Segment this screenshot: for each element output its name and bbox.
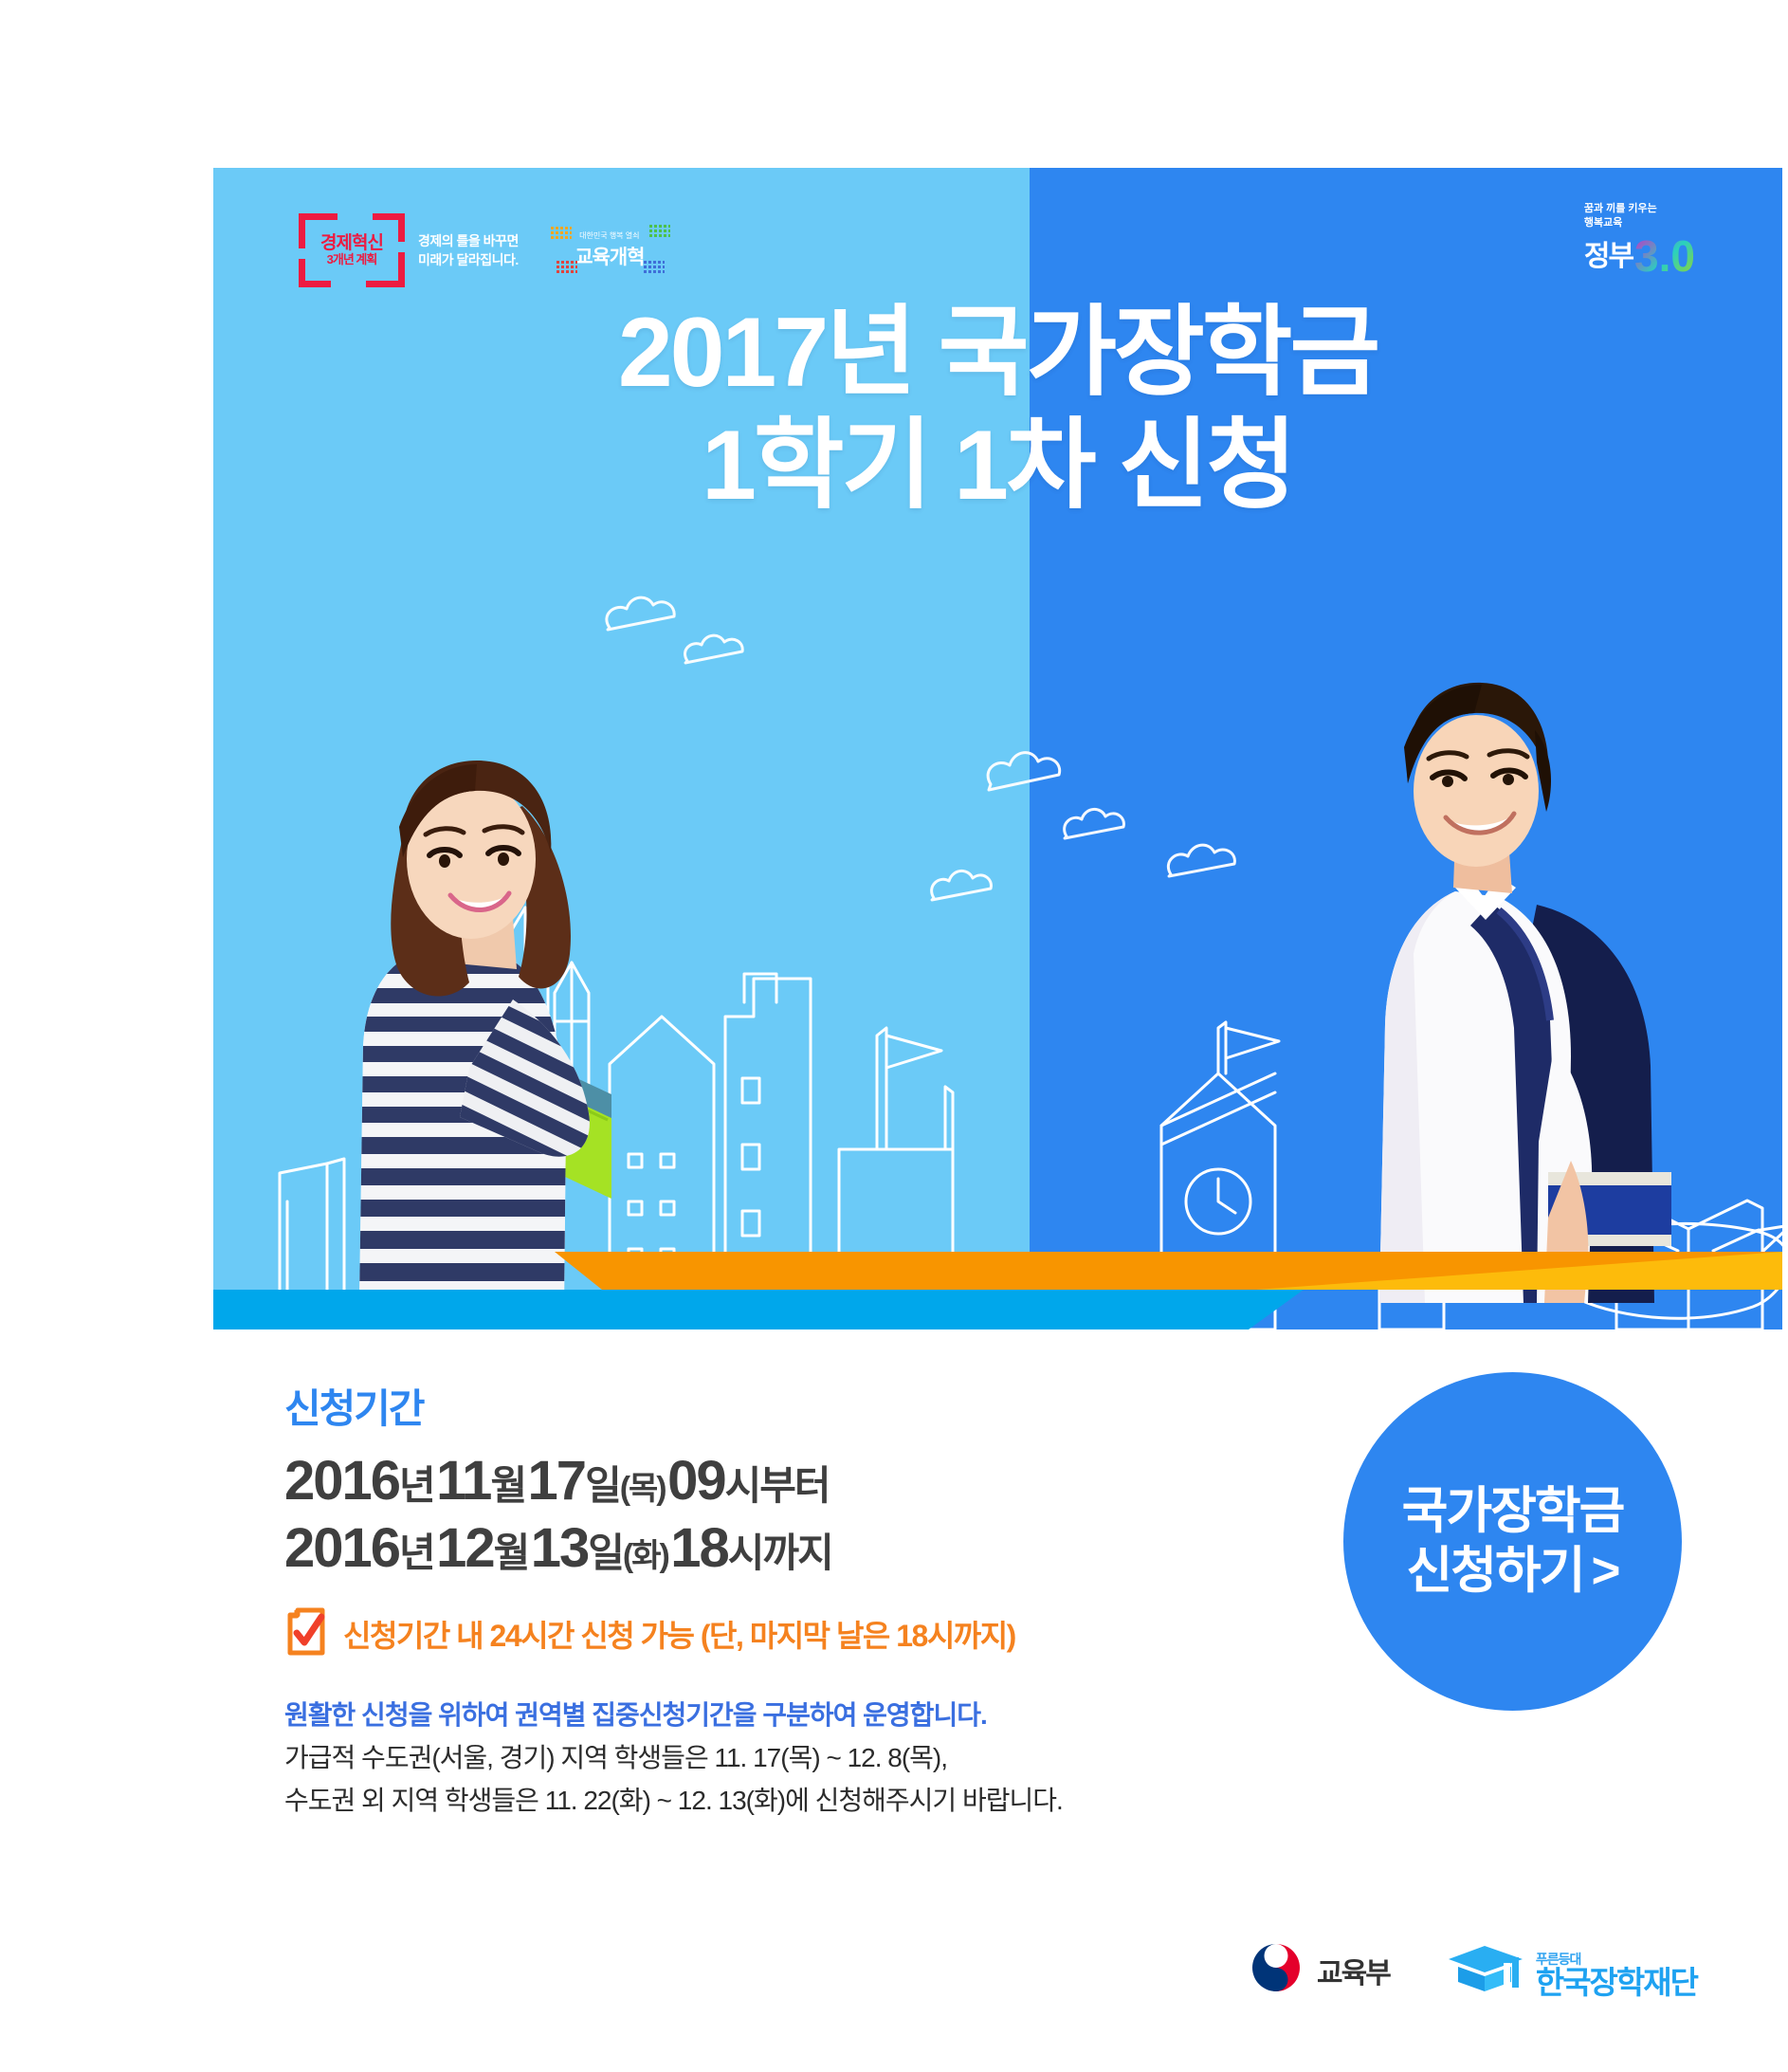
dot-grid-icon <box>551 227 572 248</box>
page-title: 2017년 국가장학금 1학기 1차 신청 <box>213 297 1782 522</box>
edu-reform-logo: 대한민국 행복 열쇠 교육개혁 <box>564 230 655 270</box>
student-female-photo <box>327 715 640 1303</box>
date-line-start: 2016년 11월 17일(목) 09시부터 <box>284 1448 1289 1515</box>
ministry-label: 교육부 <box>1317 1950 1390 1991</box>
start-year-unit: 년 <box>399 1463 434 1508</box>
taeguk-icon <box>1249 1940 1304 2000</box>
econ-reform-logo: 경제혁신 3개년 계획 경제의 틀을 바꾸면 미래가 달라집니다. <box>299 213 519 287</box>
cta-line-2: 신청하기 <box>1407 1542 1584 1602</box>
note-text: 신청기간 내 24시간 신청 가능 (단, 마지막 날은 18시까지) <box>343 1612 1015 1656</box>
start-weekday: (목) <box>620 1471 666 1507</box>
footer-logos: 교육부 푸른등대 한국장학재단 <box>0 1940 1788 2000</box>
end-month-unit: 월 <box>494 1531 529 1575</box>
application-period-block: 신청기간 2016년 11월 17일(목) 09시부터 2016년 12월 13… <box>284 1377 1289 1823</box>
poster-root: 경제혁신 3개년 계획 경제의 틀을 바꾸면 미래가 달라집니다. 대한민 <box>0 0 1788 2072</box>
dot-grid-icon <box>556 261 577 282</box>
edu-reform-name: 교육개혁 <box>575 242 644 270</box>
cta-line-1: 국가장학금 <box>1402 1482 1624 1542</box>
note-row: 신청기간 내 24시간 신청 가능 (단, 마지막 날은 18시까지) <box>284 1607 1289 1661</box>
kosaf-main-label: 한국장학재단 <box>1536 1967 1697 1998</box>
econ-logo-line3: 3개년 계획 <box>327 253 377 266</box>
end-year: 2016 <box>284 1517 399 1579</box>
date-line-end: 2016년 12월 13일(화) 18시까지 <box>284 1515 1289 1583</box>
edu-reform-tagline: 대한민국 행복 열쇠 <box>579 230 639 241</box>
clipboard-check-icon <box>284 1607 328 1661</box>
end-year-unit: 년 <box>399 1531 434 1575</box>
graduation-cap-icon <box>1445 1942 1526 1998</box>
end-weekday: (화) <box>623 1538 668 1574</box>
start-hour: 09 <box>667 1450 725 1512</box>
gov30-tagline: 꿈과 끼를 키우는 행복교육 <box>1584 202 1657 230</box>
ministry-of-education-logo: 교육부 <box>1249 1940 1390 2000</box>
cloud-doodle-left <box>607 597 742 663</box>
end-hour-unit: 시까지 <box>728 1531 832 1575</box>
end-day-unit: 일 <box>588 1531 623 1575</box>
start-year: 2016 <box>284 1450 399 1512</box>
start-hour-unit: 시부터 <box>725 1463 830 1508</box>
start-day: 17 <box>528 1450 586 1512</box>
guidance-line-2: 가급적 수도권(서울, 경기) 지역 학생들은 11. 17(목) ~ 12. … <box>284 1736 1289 1779</box>
econ-logo-line1: 경제 <box>320 233 352 253</box>
government-30-logo: 꿈과 끼를 키우는 행복교육 정부 3.0 <box>1584 202 1695 274</box>
dot-grid-icon <box>649 225 670 246</box>
section-heading: 신청기간 <box>284 1377 1289 1435</box>
hero-banner: 경제혁신 3개년 계획 경제의 틀을 바꾸면 미래가 달라집니다. 대한민 <box>213 168 1782 1329</box>
guidance-line-3: 수도권 외 지역 학생들은 11. 22(화) ~ 12. 13(화)에 신청해… <box>284 1779 1289 1822</box>
guidance-line-1: 원활한 신청을 위하여 권역별 집중신청기간을 구분하여 운영합니다. <box>284 1694 1289 1736</box>
start-month: 11 <box>436 1450 490 1512</box>
gov30-number: 3.0 <box>1634 239 1695 274</box>
apply-scholarship-button[interactable]: 국가장학금 신청하기 > <box>1343 1372 1682 1711</box>
gov30-word: 정부 <box>1584 232 1633 274</box>
start-day-unit: 일 <box>585 1463 620 1508</box>
dot-grid-icon <box>644 261 665 282</box>
student-male-photo <box>1313 649 1692 1303</box>
cloud-doodle-right <box>932 753 1235 900</box>
chevron-right-icon: > <box>1592 1542 1619 1602</box>
econ-reform-slogan: 경제의 틀을 바꾸면 미래가 달라집니다. <box>418 231 519 270</box>
hero-bottom-ribbon <box>213 1252 1782 1329</box>
end-day: 13 <box>531 1517 589 1579</box>
start-month-unit: 월 <box>490 1463 525 1508</box>
end-hour: 18 <box>670 1517 728 1579</box>
hero-logo-strip: 경제혁신 3개년 계획 경제의 틀을 바꾸면 미래가 달라집니다. 대한민 <box>299 213 655 287</box>
end-month: 12 <box>436 1517 494 1579</box>
kosaf-logo: 푸른등대 한국장학재단 <box>1445 1942 1697 1998</box>
bracket-frame-icon: 경제혁신 3개년 계획 <box>299 213 405 287</box>
guidance-paragraph: 원활한 신청을 위하여 권역별 집중신청기간을 구분하여 운영합니다. 가급적 … <box>284 1694 1289 1823</box>
